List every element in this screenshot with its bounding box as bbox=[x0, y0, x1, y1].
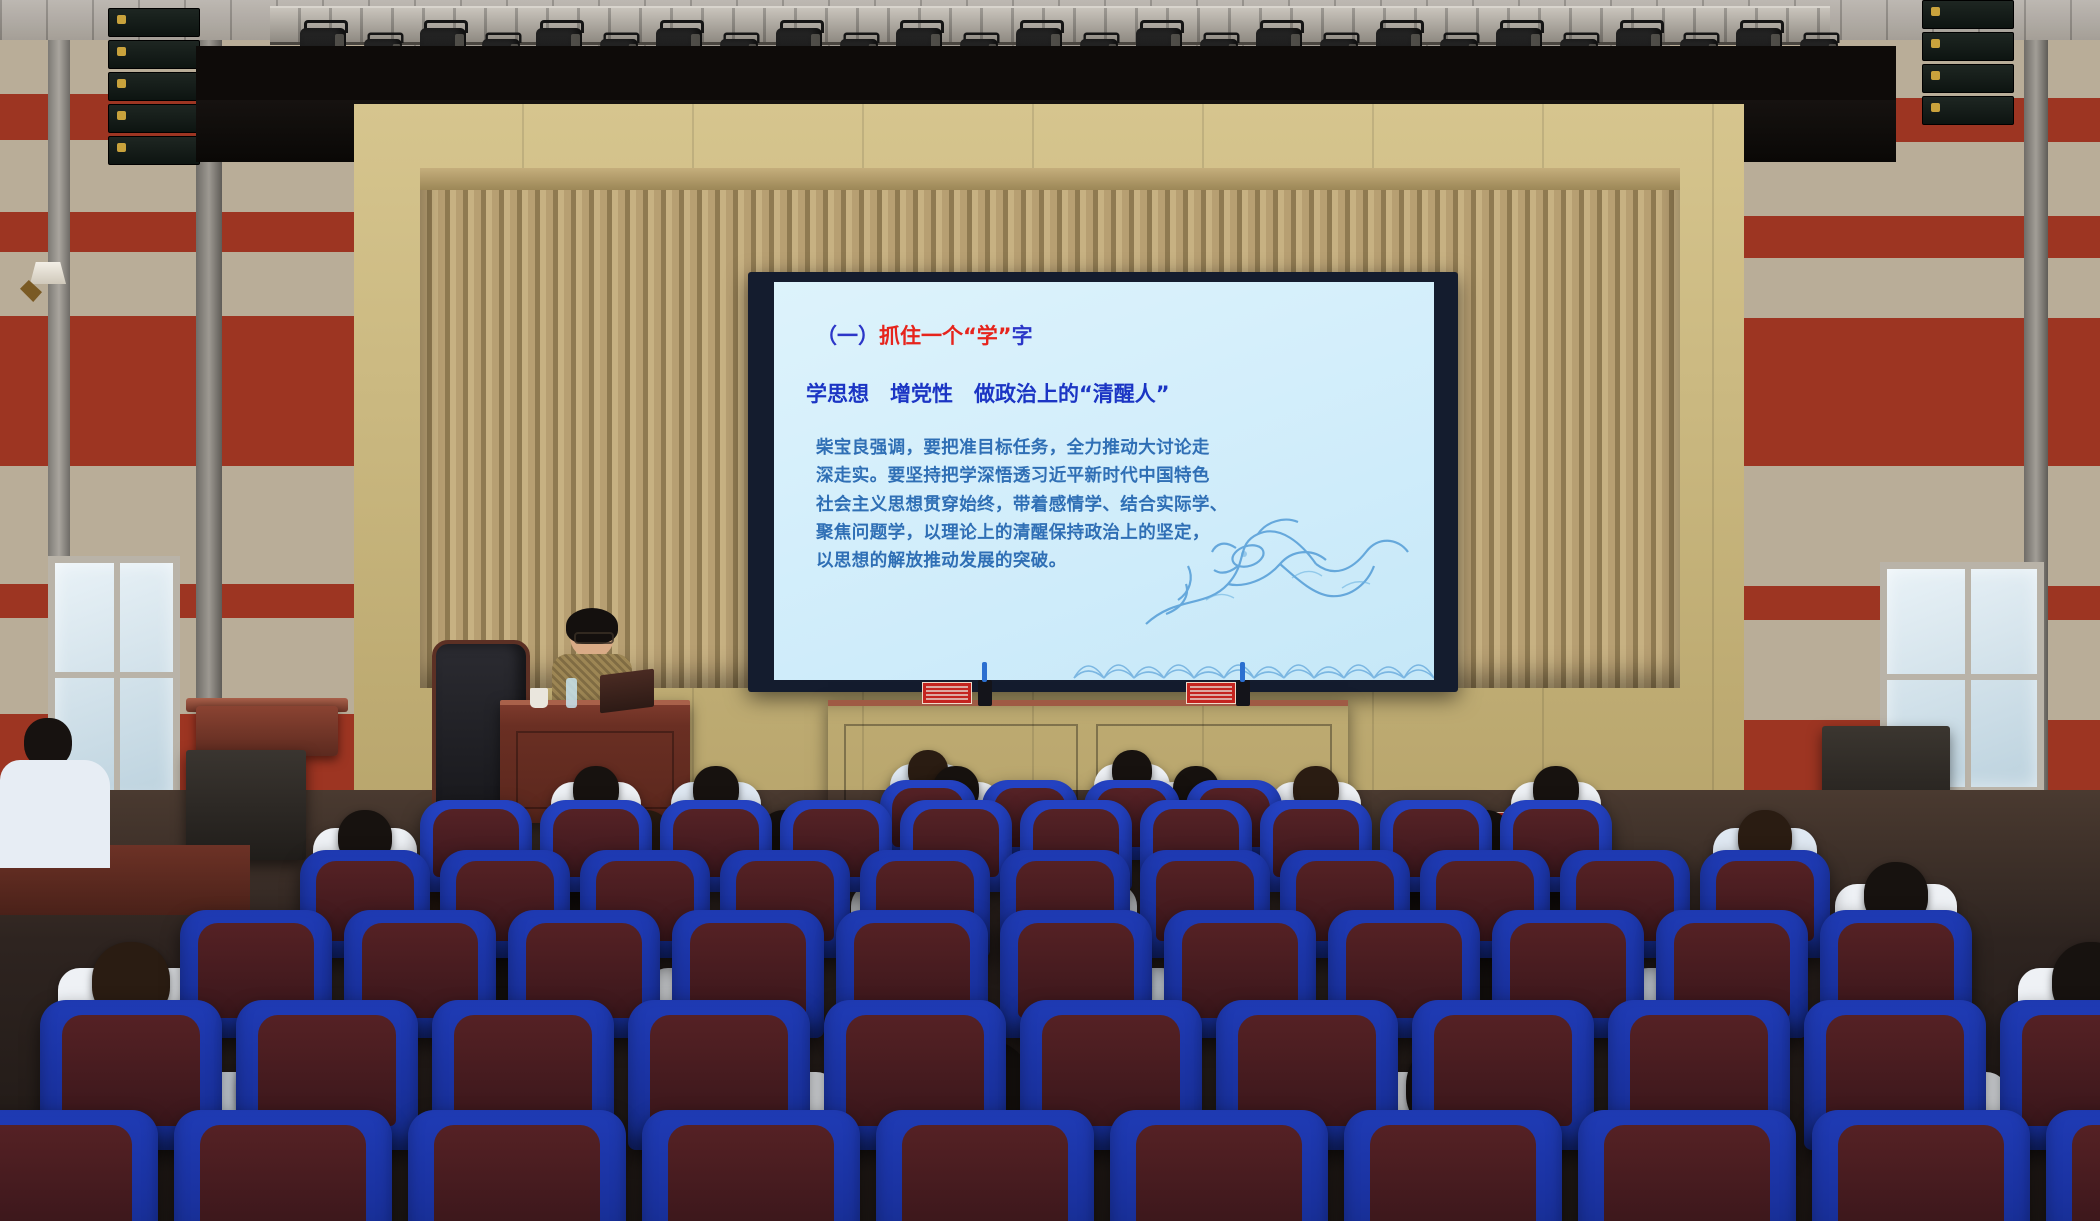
banner-backdrop bbox=[196, 46, 1896, 104]
floor-speaker-left bbox=[186, 750, 306, 860]
wave-decoration-icon bbox=[774, 634, 1434, 680]
slide-heading-quoted: “学” bbox=[963, 324, 1012, 348]
seat-back-panel bbox=[200, 1125, 366, 1221]
slide-body-line: 柴宝良强调，要把准目标任务，全力推动大讨论走 bbox=[816, 434, 1396, 462]
projection-screen: （一）抓住一个“学”字 学思想 增党性 做政治上的“清醒人” 柴宝良强调，要把准… bbox=[774, 282, 1434, 680]
slide-heading: （一）抓住一个“学”字 bbox=[816, 320, 1033, 350]
line-array-speaker-right bbox=[1922, 0, 2014, 128]
seat-back-panel bbox=[1838, 1125, 2004, 1221]
line-array-speaker-left bbox=[108, 8, 200, 168]
microphone bbox=[1236, 680, 1250, 706]
audience-seat bbox=[2046, 1110, 2100, 1221]
water-bottle bbox=[566, 678, 577, 708]
audience-seat bbox=[1812, 1110, 2030, 1221]
attendee-shirt bbox=[0, 760, 110, 868]
laptop bbox=[600, 669, 654, 714]
slide-heading-suffix: 字 bbox=[1012, 324, 1033, 348]
seat-back-panel bbox=[902, 1125, 1068, 1221]
seat-back-panel bbox=[2072, 1125, 2100, 1221]
seat-back-panel bbox=[1604, 1125, 1770, 1221]
slide-heading-prefix: （一） bbox=[816, 324, 879, 348]
audience-seat bbox=[1110, 1110, 1328, 1221]
seat-back-panel bbox=[434, 1125, 600, 1221]
lectern bbox=[196, 706, 338, 756]
wall-sconce-lamp bbox=[20, 262, 66, 304]
name-placard bbox=[1186, 682, 1236, 704]
cup bbox=[530, 688, 548, 708]
presenter-glasses bbox=[574, 632, 614, 644]
seat-back-panel bbox=[0, 1125, 132, 1221]
audience-seat bbox=[1578, 1110, 1796, 1221]
conference-hall-photo: 承德市国控集团“学思想、转作风、见行动”主题大讨论活动专题讲座 （一）抓住一个“… bbox=[0, 0, 2100, 1221]
audience-seat bbox=[876, 1110, 1094, 1221]
microphone bbox=[978, 680, 992, 706]
seat-back-panel bbox=[668, 1125, 834, 1221]
audience-seat bbox=[174, 1110, 392, 1221]
seat-back-panel bbox=[1136, 1125, 1302, 1221]
audience-seat bbox=[0, 1110, 158, 1221]
slide-subheading: 学思想 增党性 做政治上的“清醒人” bbox=[806, 378, 1170, 408]
sconce-shade bbox=[30, 262, 66, 284]
audience-seat bbox=[408, 1110, 626, 1221]
name-placard bbox=[922, 682, 972, 704]
audience-seat bbox=[642, 1110, 860, 1221]
projection-screen-frame: （一）抓住一个“学”字 学思想 增党性 做政治上的“清醒人” 柴宝良强调，要把准… bbox=[748, 272, 1458, 692]
slide-body-line: 深走实。要坚持把学深悟透习近平新时代中国特色 bbox=[816, 462, 1396, 490]
audience-seat bbox=[1344, 1110, 1562, 1221]
slide-heading-highlight: 抓住一个 bbox=[879, 324, 963, 348]
curtain-valance bbox=[420, 168, 1680, 190]
seated-attendee-left bbox=[0, 718, 120, 868]
seat-back-panel bbox=[1370, 1125, 1536, 1221]
